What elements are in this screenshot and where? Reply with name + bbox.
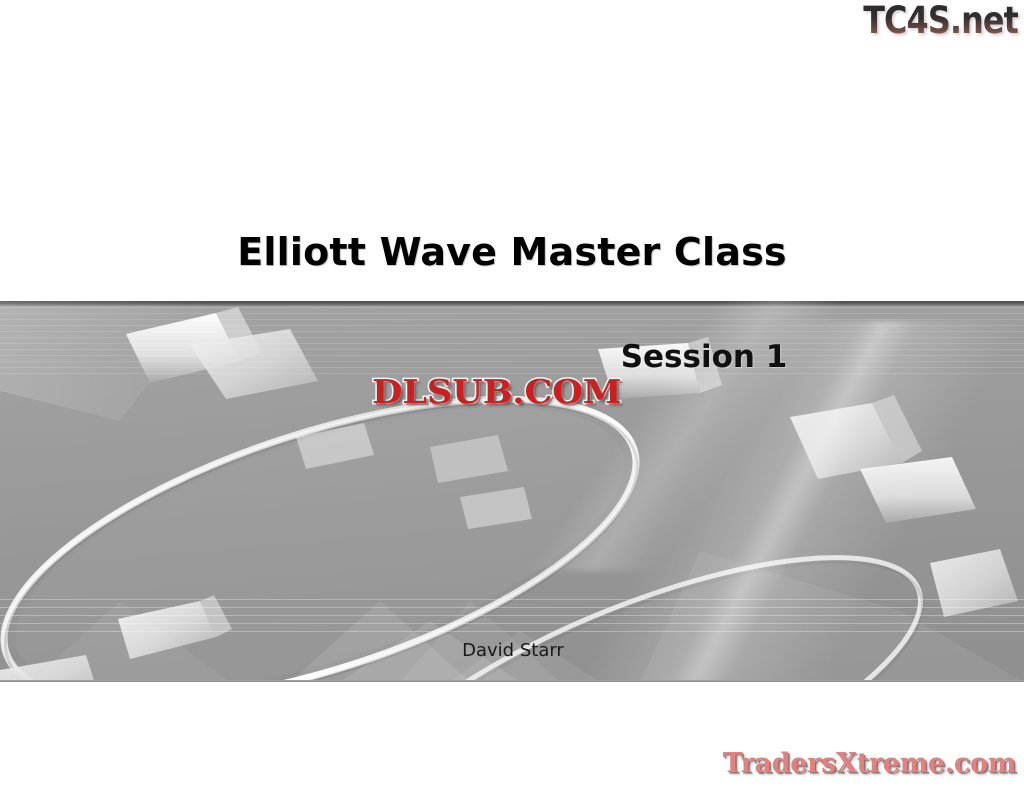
presentation-slide: TC4S.net TC4S.net Elliott Wave Master Cl… [0,0,1024,791]
presenter-name-text: David Starr [462,640,564,661]
slide-title: Elliott Wave Master Class [0,228,1024,276]
tc4s-logo: TC4S.net [863,2,1018,39]
session-label-text: Session 1 [621,339,788,375]
presenter-name: David Starr [0,640,1024,661]
session-label: Session 1 [0,339,1024,375]
band-bottom-edge [0,680,1024,682]
tradersxtreme-logo: TradersXtreme.com [723,748,1016,779]
dlsub-watermark: DLSUB.COM [372,372,621,411]
